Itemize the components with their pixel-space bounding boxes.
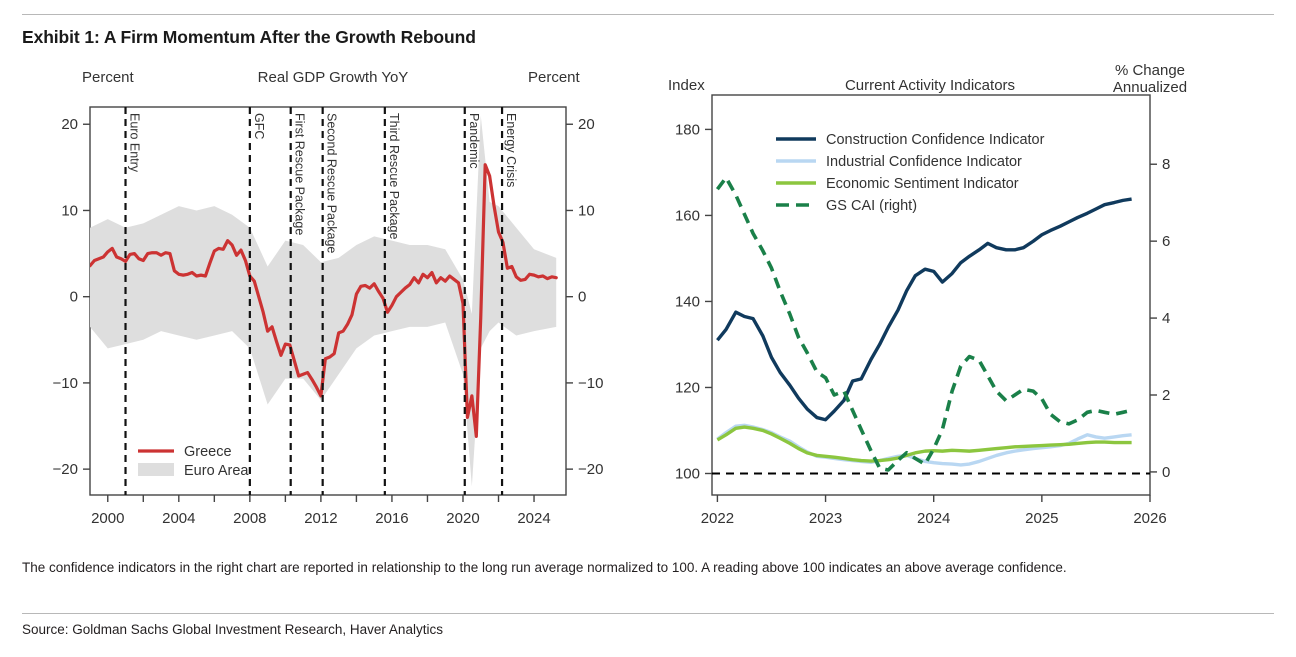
svg-text:Economic Sentiment Indicator: Economic Sentiment Indicator — [826, 176, 1019, 192]
exhibit-page: Exhibit 1: A Firm Momentum After the Gro… — [0, 0, 1296, 657]
svg-text:2004: 2004 — [162, 510, 195, 527]
svg-text:2016: 2016 — [375, 510, 408, 527]
right-chart-svg: 1001201401601800246820222023202420252026… — [640, 55, 1280, 555]
svg-text:180: 180 — [675, 121, 700, 138]
svg-text:First Rescue Package: First Rescue Package — [293, 113, 307, 235]
svg-text:Euro Entry: Euro Entry — [128, 113, 142, 173]
svg-text:120: 120 — [675, 379, 700, 396]
svg-text:0: 0 — [70, 289, 78, 306]
svg-text:8: 8 — [1162, 156, 1170, 173]
svg-text:Industrial Confidence Indicato: Industrial Confidence Indicator — [826, 154, 1022, 170]
svg-text:Second Rescue Package: Second Rescue Package — [325, 113, 339, 253]
svg-text:6: 6 — [1162, 233, 1170, 250]
left-chart-ylabel-left: Percent — [82, 69, 134, 86]
svg-text:−10: −10 — [53, 375, 78, 392]
chart-current-activity-indicators: Index Current Activity Indicators % Chan… — [640, 55, 1280, 555]
svg-text:2026: 2026 — [1133, 510, 1166, 527]
svg-text:Third Rescue Package: Third Rescue Package — [387, 113, 401, 240]
svg-text:0: 0 — [578, 289, 586, 306]
svg-text:2000: 2000 — [91, 510, 124, 527]
svg-text:100: 100 — [675, 465, 700, 482]
footnote: The confidence indicators in the right c… — [22, 558, 1278, 578]
svg-text:Pandemic: Pandemic — [467, 113, 481, 169]
left-chart-svg: −20−20−10−100010102020200020042008201220… — [18, 55, 638, 555]
charts-container: Percent Real GDP Growth YoY Percent −20−… — [0, 55, 1296, 555]
svg-text:2: 2 — [1162, 387, 1170, 404]
right-chart-title: Current Activity Indicators — [800, 77, 1060, 94]
source-line: Source: Goldman Sachs Global Investment … — [22, 622, 443, 637]
svg-text:140: 140 — [675, 293, 700, 310]
svg-text:2025: 2025 — [1025, 510, 1058, 527]
svg-text:2024: 2024 — [517, 510, 550, 527]
svg-text:2023: 2023 — [809, 510, 842, 527]
svg-text:Energy Crisis: Energy Crisis — [504, 113, 518, 187]
svg-text:10: 10 — [578, 202, 595, 219]
source-divider — [22, 613, 1274, 614]
svg-text:2022: 2022 — [701, 510, 734, 527]
svg-text:2020: 2020 — [446, 510, 479, 527]
svg-text:2012: 2012 — [304, 510, 337, 527]
left-chart-ylabel-right: Percent — [528, 69, 580, 86]
left-chart-title: Real GDP Growth YoY — [223, 69, 443, 86]
svg-text:0: 0 — [1162, 464, 1170, 481]
page-title: Exhibit 1: A Firm Momentum After the Gro… — [22, 27, 476, 48]
svg-text:2008: 2008 — [233, 510, 266, 527]
svg-text:Construction Confidence Indica: Construction Confidence Indicator — [826, 132, 1045, 148]
svg-text:−20: −20 — [53, 461, 78, 478]
svg-text:Euro Area: Euro Area — [184, 463, 249, 479]
svg-text:2024: 2024 — [917, 510, 950, 527]
right-chart-ylabel-right: % ChangeAnnualized — [1060, 63, 1240, 97]
svg-text:4: 4 — [1162, 310, 1170, 327]
svg-text:160: 160 — [675, 207, 700, 224]
svg-text:GS CAI (right): GS CAI (right) — [826, 198, 917, 214]
svg-text:−10: −10 — [578, 375, 603, 392]
right-chart-ylabel-left: Index — [668, 77, 705, 94]
right-ylabel-line1: % Change — [1115, 62, 1185, 79]
chart-real-gdp-growth: Percent Real GDP Growth YoY Percent −20−… — [18, 55, 638, 555]
svg-text:20: 20 — [61, 116, 78, 133]
svg-text:20: 20 — [578, 116, 595, 133]
svg-text:GFC: GFC — [252, 113, 266, 139]
svg-text:−20: −20 — [578, 461, 603, 478]
svg-text:10: 10 — [61, 202, 78, 219]
right-ylabel-line2: Annualized — [1113, 79, 1187, 96]
svg-text:Greece: Greece — [184, 444, 232, 460]
top-divider — [22, 14, 1274, 15]
